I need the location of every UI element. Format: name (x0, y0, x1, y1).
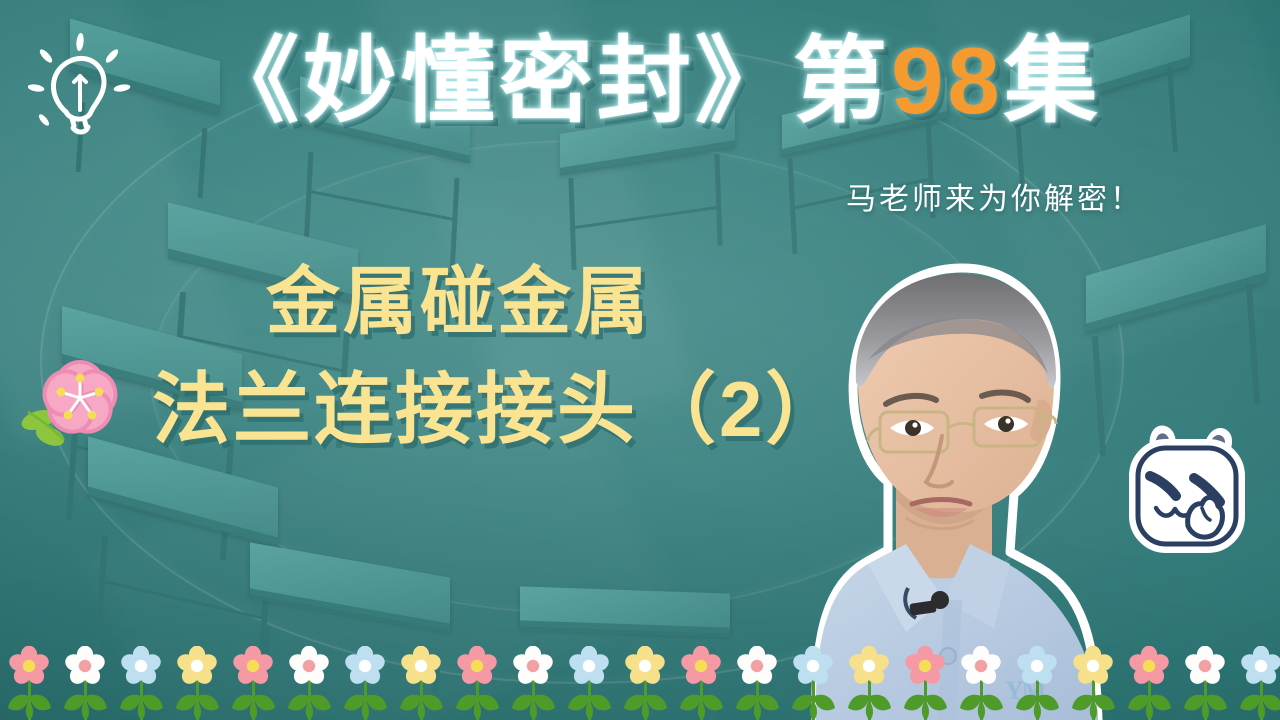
flower-icon (1238, 646, 1280, 720)
flower-icon (286, 646, 332, 720)
flower-icon (678, 646, 724, 720)
title-episode-number: 98 (891, 28, 1004, 133)
title-episode-prefix: 第 (793, 28, 891, 133)
flower-icon (790, 646, 836, 720)
headline-line-1: 金属碰金属 (266, 265, 651, 339)
title-bracket-open: 《 (205, 28, 303, 133)
title-card: 《妙懂密封》第98集 马老师来为你解密！ (0, 0, 1280, 720)
flower-icon (902, 646, 948, 720)
flower-icon (174, 646, 220, 720)
cherry-blossom-icon (20, 348, 136, 448)
lightbulb-icon (28, 30, 138, 142)
flower-icon (1070, 646, 1116, 720)
flower-border (0, 644, 1280, 720)
flower-icon (6, 646, 52, 720)
flower-icon (398, 646, 444, 720)
flower-icon (510, 646, 556, 720)
flower-icon (958, 646, 1004, 720)
headline-line-2: 法兰连接接头（2） (152, 370, 846, 448)
flower-icon (846, 646, 892, 720)
flower-icon (734, 646, 780, 720)
flower-icon (1126, 646, 1172, 720)
mascot-head-icon (1128, 418, 1252, 568)
flower-icon (622, 646, 668, 720)
flower-icon (1182, 646, 1228, 720)
flower-icon (566, 646, 612, 720)
title-bracket-close: 》 (695, 28, 793, 133)
flower-icon (454, 646, 500, 720)
flower-icon (230, 646, 276, 720)
title-name: 妙懂密封 (303, 28, 695, 133)
flower-icon (118, 646, 164, 720)
flower-icon (342, 646, 388, 720)
flower-icon (62, 646, 108, 720)
page-title: 《妙懂密封》第98集 (205, 34, 1102, 128)
subtitle: 马老师来为你解密！ (846, 174, 1143, 218)
title-episode-suffix: 集 (1004, 28, 1102, 133)
flower-icon (1014, 646, 1060, 720)
